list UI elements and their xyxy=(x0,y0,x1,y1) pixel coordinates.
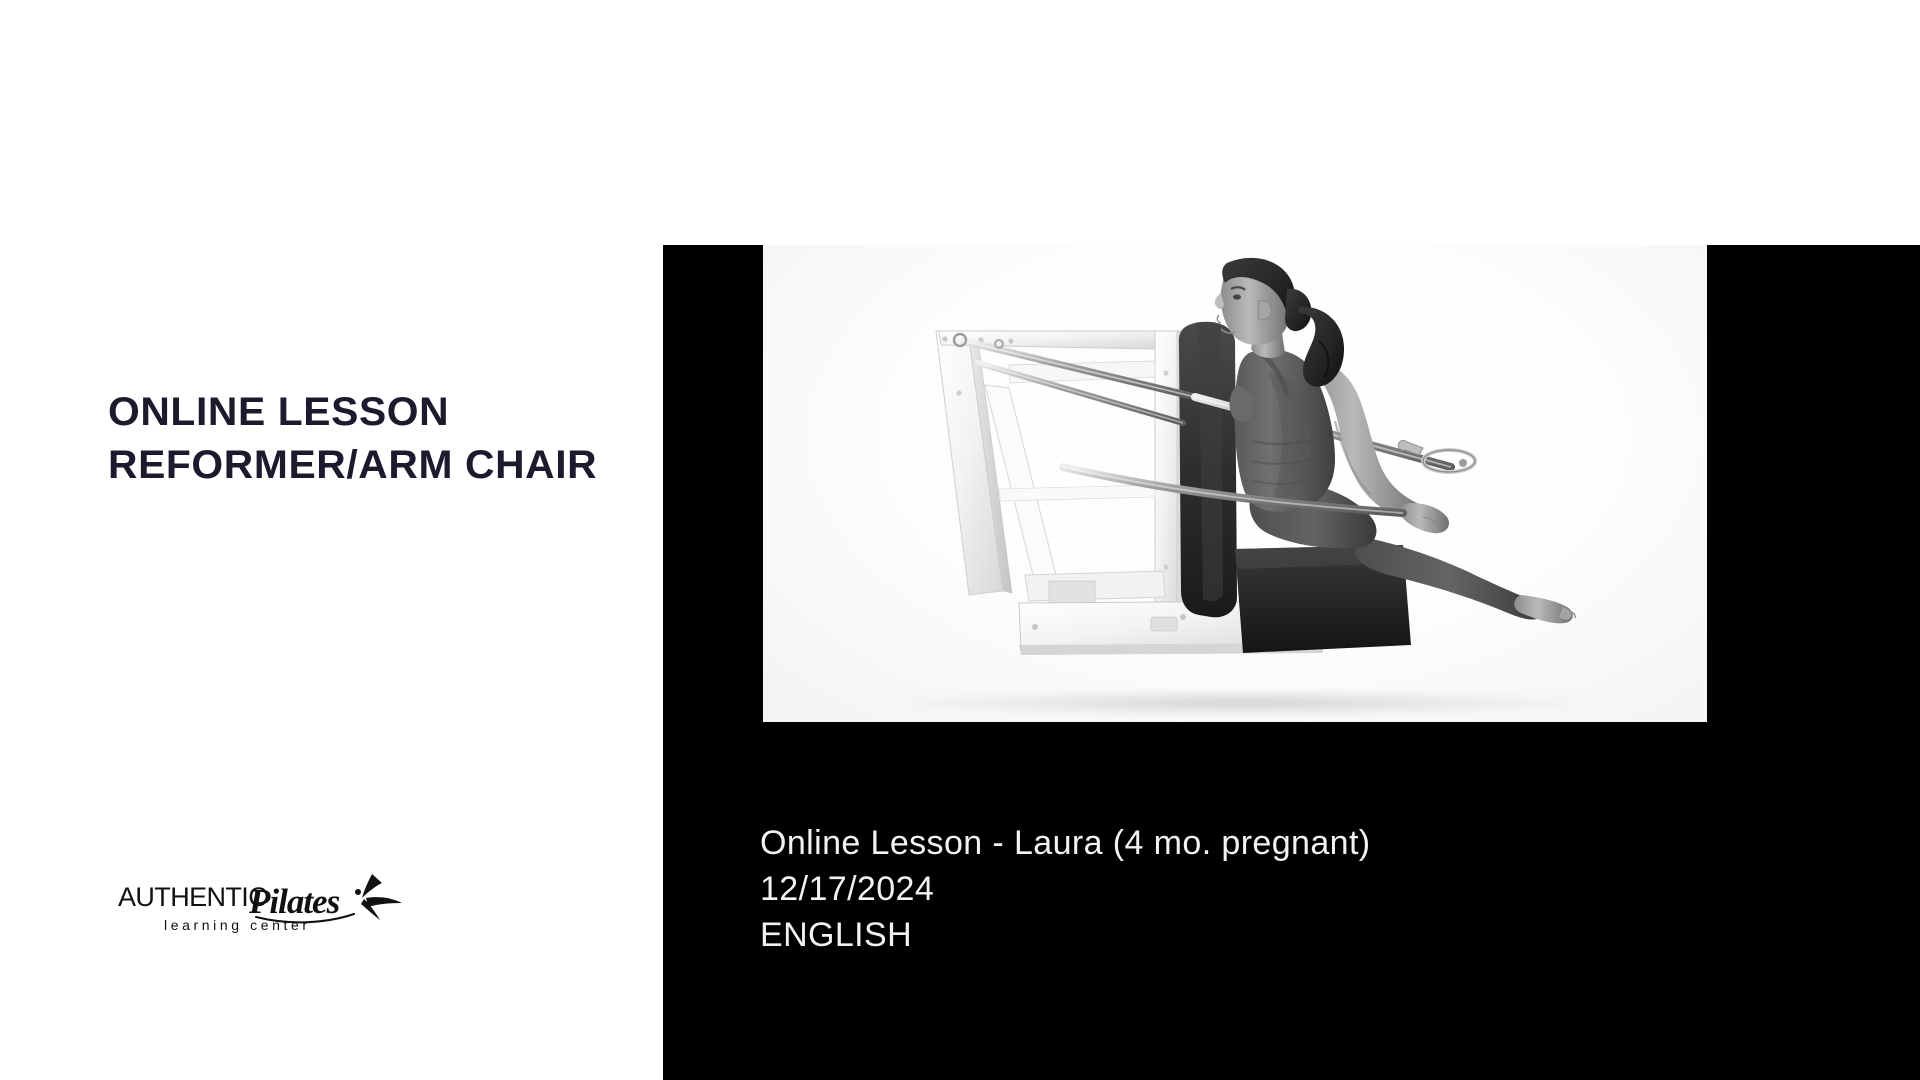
caption-lesson-name: Online Lesson - Laura (4 mo. pregnant) xyxy=(760,820,1580,866)
logo-tagline: learning center xyxy=(164,917,311,933)
bird-swoosh-icon xyxy=(355,874,402,920)
photo-floor-shadow xyxy=(913,690,1573,716)
lesson-photo xyxy=(763,245,1707,722)
pilates-arm-chair-illustration xyxy=(763,245,1707,722)
caption-date: 12/17/2024 xyxy=(760,866,1580,912)
logo-artwork: AUTHENTIC Pilates learning center xyxy=(118,872,408,934)
caption-language: ENGLISH xyxy=(760,912,1580,958)
page-title: ONLINE LESSON REFORMER/ARM CHAIR xyxy=(108,386,648,492)
title-line-1: ONLINE LESSON xyxy=(108,386,659,439)
logo-script-mark: Pilates xyxy=(248,882,340,921)
slide-canvas: ONLINE LESSON REFORMER/ARM CHAIR Online … xyxy=(0,0,1920,1080)
lesson-caption: Online Lesson - Laura (4 mo. pregnant) 1… xyxy=(760,820,1580,959)
logo-wordmark: AUTHENTIC xyxy=(118,882,267,912)
authentic-pilates-logo: AUTHENTIC Pilates learning center xyxy=(118,872,408,934)
title-line-2: REFORMER/ARM CHAIR xyxy=(108,439,659,492)
photo-plate xyxy=(763,245,1707,722)
